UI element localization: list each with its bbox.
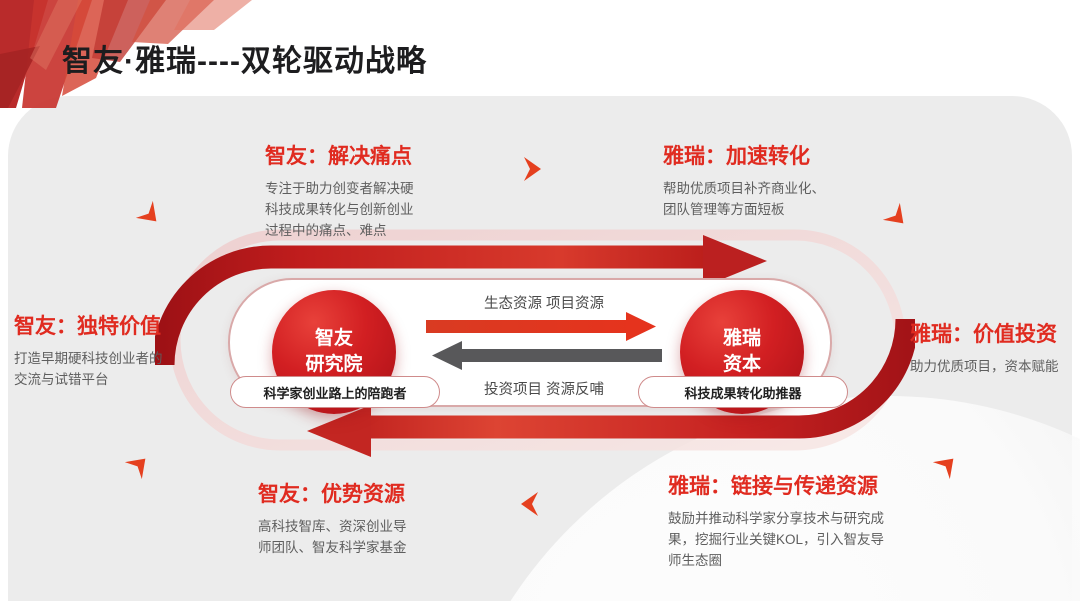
- backward-arrow-icon: [432, 341, 662, 370]
- block-bottom-left-line1: 高科技智库、资深创业导: [258, 517, 407, 538]
- block-bottom-left-body: 高科技智库、资深创业导 师团队、智友科学家基金: [258, 517, 407, 559]
- block-top-right-line1: 帮助优质项目补齐商业化、: [663, 179, 825, 200]
- slide-canvas: 智友·雅瑞----双轮驱动战略: [0, 0, 1080, 601]
- block-top-right-heading: 雅瑞：加速转化: [663, 140, 825, 170]
- block-bottom-left-heading: 智友：优势资源: [258, 478, 407, 508]
- block-right-body: 助力优质项目，资本赋能: [910, 357, 1059, 378]
- node-zhiyou-line2: 研究院: [305, 352, 362, 378]
- node-yarui-line2: 资本: [723, 352, 761, 378]
- block-left-line1: 打造早期硬科技创业者的: [14, 349, 163, 370]
- block-top-right-body: 帮助优质项目补齐商业化、 团队管理等方面短板: [663, 179, 825, 221]
- block-left: 智友：独特价值 打造早期硬科技创业者的 交流与试错平台: [14, 310, 163, 391]
- block-left-line2: 交流与试错平台: [14, 370, 163, 391]
- block-left-body: 打造早期硬科技创业者的 交流与试错平台: [14, 349, 163, 391]
- node-yarui-line1: 雅瑞: [723, 326, 761, 352]
- block-top-left-line2: 科技成果转化与创新创业: [265, 200, 414, 221]
- block-right-heading: 雅瑞：价值投资: [910, 318, 1059, 348]
- block-bottom-right-line2: 果，挖掘行业关键KOL，引入智友导: [668, 530, 884, 551]
- forward-arrow-icon: [426, 312, 656, 341]
- node-yarui-tag: 科技成果转化助推器: [638, 376, 848, 408]
- chevron-top-center-icon: [515, 152, 549, 186]
- block-top-left-line1: 专注于助力创变者解决硬: [265, 179, 414, 200]
- exchange-arrows-group: 生态资源 项目资源 投资项目 资源反哺: [424, 292, 664, 400]
- block-right-line1: 助力优质项目，资本赋能: [910, 357, 1059, 378]
- block-top-left: 智友：解决痛点 专注于助力创变者解决硬 科技成果转化与创新创业 过程中的痛点、难…: [265, 140, 414, 242]
- block-bottom-right-body: 鼓励并推动科学家分享技术与研究成 果，挖掘行业关键KOL，引入智友导 师生态圈: [668, 509, 884, 572]
- block-top-right-line2: 团队管理等方面短板: [663, 200, 825, 221]
- block-right: 雅瑞：价值投资 助力优质项目，资本赋能: [910, 318, 1059, 378]
- block-bottom-left: 智友：优势资源 高科技智库、资深创业导 师团队、智友科学家基金: [258, 478, 407, 559]
- block-top-left-body: 专注于助力创变者解决硬 科技成果转化与创新创业 过程中的痛点、难点: [265, 179, 414, 242]
- block-bottom-left-line2: 师团队、智友科学家基金: [258, 538, 407, 559]
- node-zhiyou-line1: 智友: [315, 326, 353, 352]
- chevron-bottom-center-icon: [513, 487, 547, 521]
- block-top-left-line3: 过程中的痛点、难点: [265, 221, 414, 242]
- block-left-heading: 智友：独特价值: [14, 310, 163, 340]
- page-title: 智友·雅瑞----双轮驱动战略: [62, 36, 427, 80]
- block-top-right: 雅瑞：加速转化 帮助优质项目补齐商业化、 团队管理等方面短板: [663, 140, 825, 221]
- block-top-left-heading: 智友：解决痛点: [265, 140, 414, 170]
- block-bottom-right-heading: 雅瑞：链接与传递资源: [668, 470, 884, 500]
- block-bottom-right-line3: 师生态圈: [668, 551, 884, 572]
- node-yarui-capital[interactable]: 雅瑞 资本 科技成果转化助推器: [680, 290, 804, 414]
- node-zhiyou-institute[interactable]: 智友 研究院 科学家创业路上的陪跑者: [272, 290, 396, 414]
- node-zhiyou-tag: 科学家创业路上的陪跑者: [230, 376, 440, 408]
- block-bottom-right-line1: 鼓励并推动科学家分享技术与研究成: [668, 509, 884, 530]
- block-bottom-right: 雅瑞：链接与传递资源 鼓励并推动科学家分享技术与研究成 果，挖掘行业关键KOL，…: [668, 470, 884, 572]
